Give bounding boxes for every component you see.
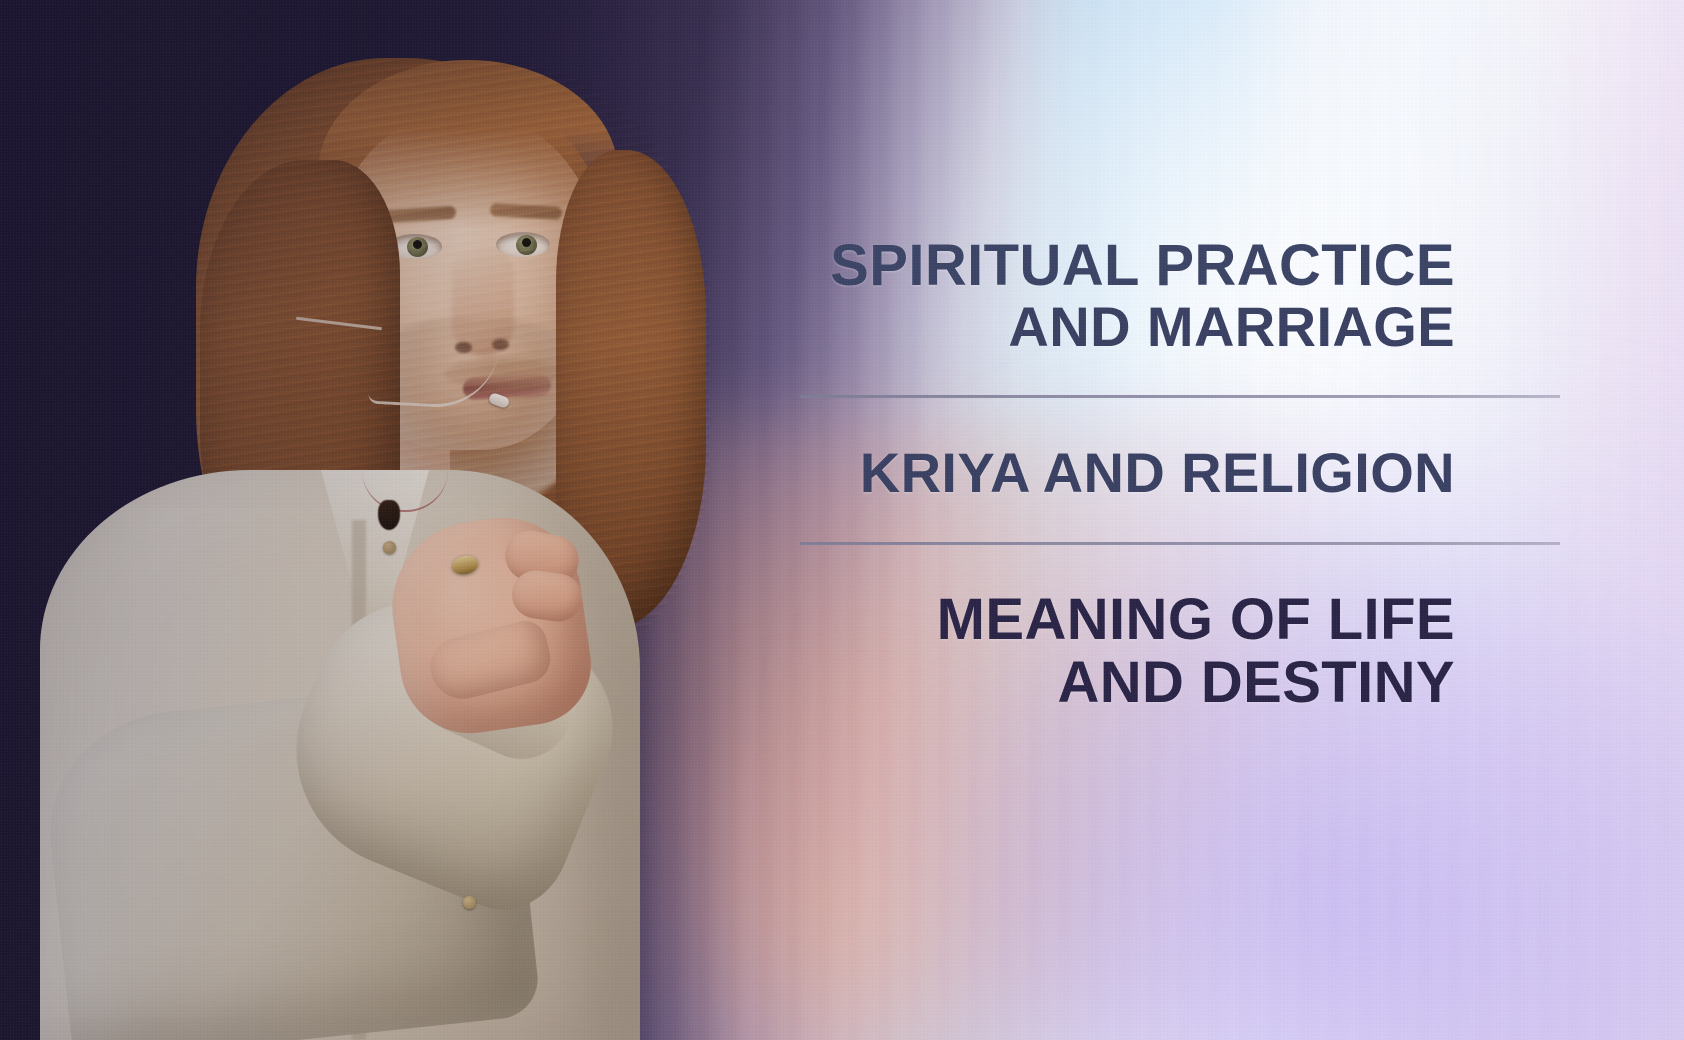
banner-canvas: SPIRITUAL PRACTICE AND MARRIAGE KRIYA AN…	[0, 0, 1684, 1040]
spacer	[800, 545, 1560, 589]
topic-1-line-2: AND MARRIAGE	[800, 296, 1560, 356]
necklace-pendant	[378, 500, 400, 530]
topic-2-line-1: KRIYA AND RELIGION	[800, 442, 1560, 502]
spacer	[800, 502, 1560, 542]
topic-item-3: MEANING OF LIFE AND DESTINY	[800, 589, 1560, 714]
speaker-photo	[0, 0, 760, 1040]
topic-item-2: KRIYA AND RELIGION	[800, 442, 1560, 502]
spacer	[800, 398, 1560, 442]
shirt-button	[383, 541, 396, 554]
topic-1-line-1: SPIRITUAL PRACTICE	[800, 236, 1560, 296]
topic-item-1: SPIRITUAL PRACTICE AND MARRIAGE	[800, 236, 1560, 355]
spacer	[800, 355, 1560, 395]
topic-3-line-1: MEANING OF LIFE	[800, 589, 1560, 652]
shirt-button	[463, 896, 476, 909]
topic-list: SPIRITUAL PRACTICE AND MARRIAGE KRIYA AN…	[800, 236, 1560, 714]
topic-3-line-2: AND DESTINY	[800, 652, 1560, 715]
